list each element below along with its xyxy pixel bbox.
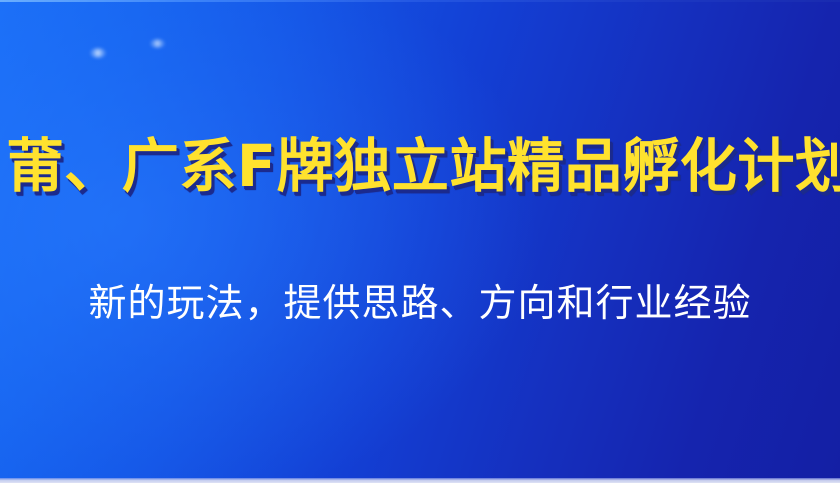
- bokeh-dot-left-icon: [90, 48, 106, 58]
- top-edge-highlight: [0, 0, 840, 2]
- bokeh-dot-right-icon: [150, 39, 165, 48]
- bottom-edge-strip: [0, 478, 840, 483]
- subtitle-container: 新的玩法，提供思路、方向和行业经验: [0, 279, 840, 327]
- banner-subtitle: 新的玩法，提供思路、方向和行业经验: [88, 279, 751, 327]
- banner-title: 莆、广系F牌独立站精品孵化计划: [6, 131, 840, 201]
- title-container: 莆、广系F牌独立站精品孵化计划: [0, 131, 840, 201]
- course-cover-banner: 莆、广系F牌独立站精品孵化计划 新的玩法，提供思路、方向和行业经验: [0, 0, 840, 483]
